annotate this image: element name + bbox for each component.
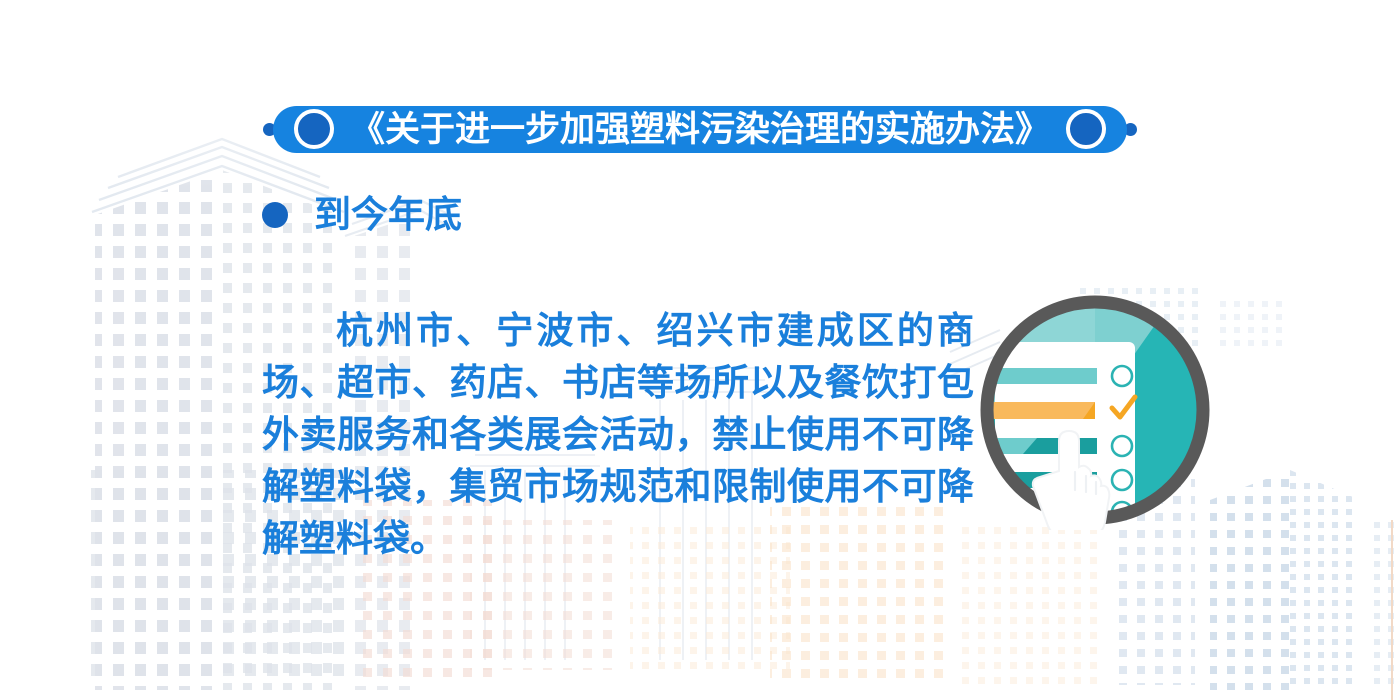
poster-canvas: 《关于进一步加强塑料污染治理的实施办法》 到今年底 杭州市、宁波市、绍兴市建成区…: [0, 0, 1400, 700]
title-text: 《关于进一步加强塑料污染治理的实施办法》: [350, 112, 1050, 147]
title-right-knob-icon: [1066, 109, 1106, 149]
section-heading: 到今年底: [314, 196, 462, 233]
checklist-illustration: [975, 290, 1215, 530]
title-banner-plate: 《关于进一步加强塑料污染治理的实施办法》: [298, 106, 1102, 153]
title-banner: 《关于进一步加强塑料污染治理的实施办法》: [0, 94, 1400, 164]
section-heading-row: 到今年底: [262, 196, 462, 233]
section-body-text: 杭州市、宁波市、绍兴市建成区的商场、超市、药店、书店等场所以及餐饮打包外卖服务和…: [262, 305, 974, 565]
filled-circle-bullet-icon: [262, 202, 288, 228]
title-left-knob-icon: [294, 109, 334, 149]
